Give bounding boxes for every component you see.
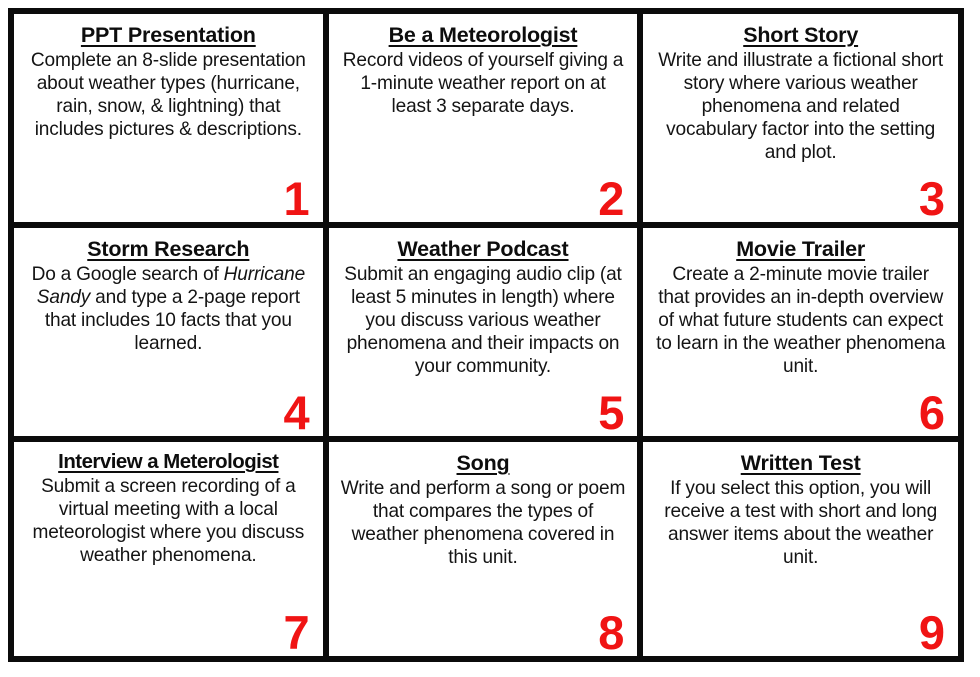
choice-cell-4-number: 4 <box>284 389 310 436</box>
choice-cell-9-inner: Written Test If you select this option, … <box>653 451 948 650</box>
choice-cell-2-inner: Be a Meteorologist Record videos of your… <box>339 23 628 216</box>
choice-cell-8-inner: Song Write and perform a song or poem th… <box>339 451 628 650</box>
choice-cell-9-body: If you select this option, you will rece… <box>653 477 948 569</box>
choice-cell-6-number: 6 <box>919 389 945 436</box>
choice-cell-4-body-prefix: Do a Google search of <box>32 264 224 285</box>
choice-cell-2-body: Record videos of yourself giving a 1-min… <box>339 49 628 118</box>
choice-cell-4-inner: Storm Research Do a Google search of Hur… <box>24 237 313 430</box>
choice-cell-4-body: Do a Google search of Hurricane Sandy an… <box>24 263 313 355</box>
choice-cell-8-body: Write and perform a song or poem that co… <box>339 477 628 569</box>
choice-cell-9[interactable]: Written Test If you select this option, … <box>643 442 958 656</box>
choice-cell-7-number: 7 <box>284 609 310 656</box>
choice-cell-8[interactable]: Song Write and perform a song or poem th… <box>329 442 644 656</box>
choice-cell-1-inner: PPT Presentation Complete an 8-slide pre… <box>24 23 313 216</box>
choice-cell-1-title: PPT Presentation <box>24 23 313 48</box>
choice-cell-3-inner: Short Story Write and illustrate a ficti… <box>653 23 948 216</box>
choice-cell-2-title: Be a Meteorologist <box>339 23 628 48</box>
choice-cell-3[interactable]: Short Story Write and illustrate a ficti… <box>643 14 958 228</box>
choice-cell-5-title: Weather Podcast <box>339 237 628 262</box>
choice-cell-3-title: Short Story <box>653 23 948 48</box>
choice-cell-8-title: Song <box>339 451 628 476</box>
choice-cell-9-number: 9 <box>919 609 945 656</box>
choice-cell-1-number: 1 <box>284 175 310 222</box>
choice-cell-4[interactable]: Storm Research Do a Google search of Hur… <box>14 228 329 442</box>
choice-cell-5-inner: Weather Podcast Submit an engaging audio… <box>339 237 628 430</box>
choice-cell-3-body: Write and illustrate a fictional short s… <box>653 49 948 164</box>
choice-cell-1-body: Complete an 8-slide presentation about w… <box>24 49 313 141</box>
choice-cell-9-title: Written Test <box>653 451 948 476</box>
choice-cell-6-title: Movie Trailer <box>653 237 948 262</box>
choice-cell-6-body: Create a 2-minute movie trailer that pro… <box>653 263 948 378</box>
choice-cell-7-body: Submit a screen recording of a virtual m… <box>24 475 313 567</box>
clipped-caption-strip: . . . . . <box>0 670 980 677</box>
choice-cell-8-number: 8 <box>598 609 624 656</box>
choice-cell-6[interactable]: Movie Trailer Create a 2-minute movie tr… <box>643 228 958 442</box>
choice-cell-4-title: Storm Research <box>24 237 313 262</box>
choice-cell-3-number: 3 <box>919 175 945 222</box>
choice-cell-1[interactable]: PPT Presentation Complete an 8-slide pre… <box>14 14 329 228</box>
choice-cell-7[interactable]: Interview a Meterologist Submit a screen… <box>14 442 329 656</box>
choice-cell-2-number: 2 <box>598 175 624 222</box>
choice-cell-5-body: Submit an engaging audio clip (at least … <box>339 263 628 378</box>
choice-cell-7-inner: Interview a Meterologist Submit a screen… <box>24 451 313 650</box>
choice-cell-7-title: Interview a Meterologist <box>24 451 313 474</box>
choice-board-grid: PPT Presentation Complete an 8-slide pre… <box>8 8 964 662</box>
clipped-caption-text: . . . . . <box>150 670 850 675</box>
choice-cell-5[interactable]: Weather Podcast Submit an engaging audio… <box>329 228 644 442</box>
choice-cell-2[interactable]: Be a Meteorologist Record videos of your… <box>329 14 644 228</box>
choice-cell-5-number: 5 <box>598 389 624 436</box>
choice-cell-6-inner: Movie Trailer Create a 2-minute movie tr… <box>653 237 948 430</box>
